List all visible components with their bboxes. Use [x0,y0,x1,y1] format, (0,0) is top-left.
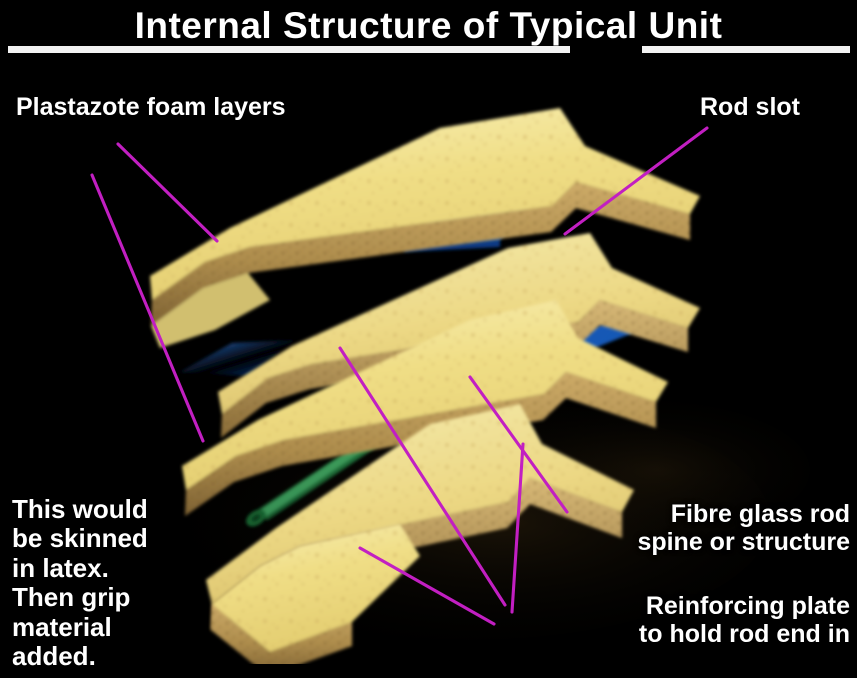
leader-line-foam-layers-b [92,175,203,441]
page-title: Internal Structure of Typical Unit [0,5,857,47]
label-fibre-glass-rod: Fibre glass rod spine or structure [514,500,850,557]
diagram-canvas: Internal Structure of Typical Unit Plast… [0,0,857,678]
title-underline-right [642,46,850,53]
title-underline-left [8,46,570,53]
leader-line-reinforcing-plate-a [340,348,505,605]
leader-line-rod-slot [565,128,707,234]
label-reinforcing-plate: Reinforcing plate to hold rod end in [508,592,850,649]
label-plastazote-foam-layers: Plastazote foam layers [16,93,286,121]
leader-line-foam-layers-a [118,144,217,241]
title-block: Internal Structure of Typical Unit [0,2,857,60]
label-latex-skin-note: This would be skinned in latex. Then gri… [12,495,148,671]
label-rod-slot: Rod slot [700,93,800,121]
